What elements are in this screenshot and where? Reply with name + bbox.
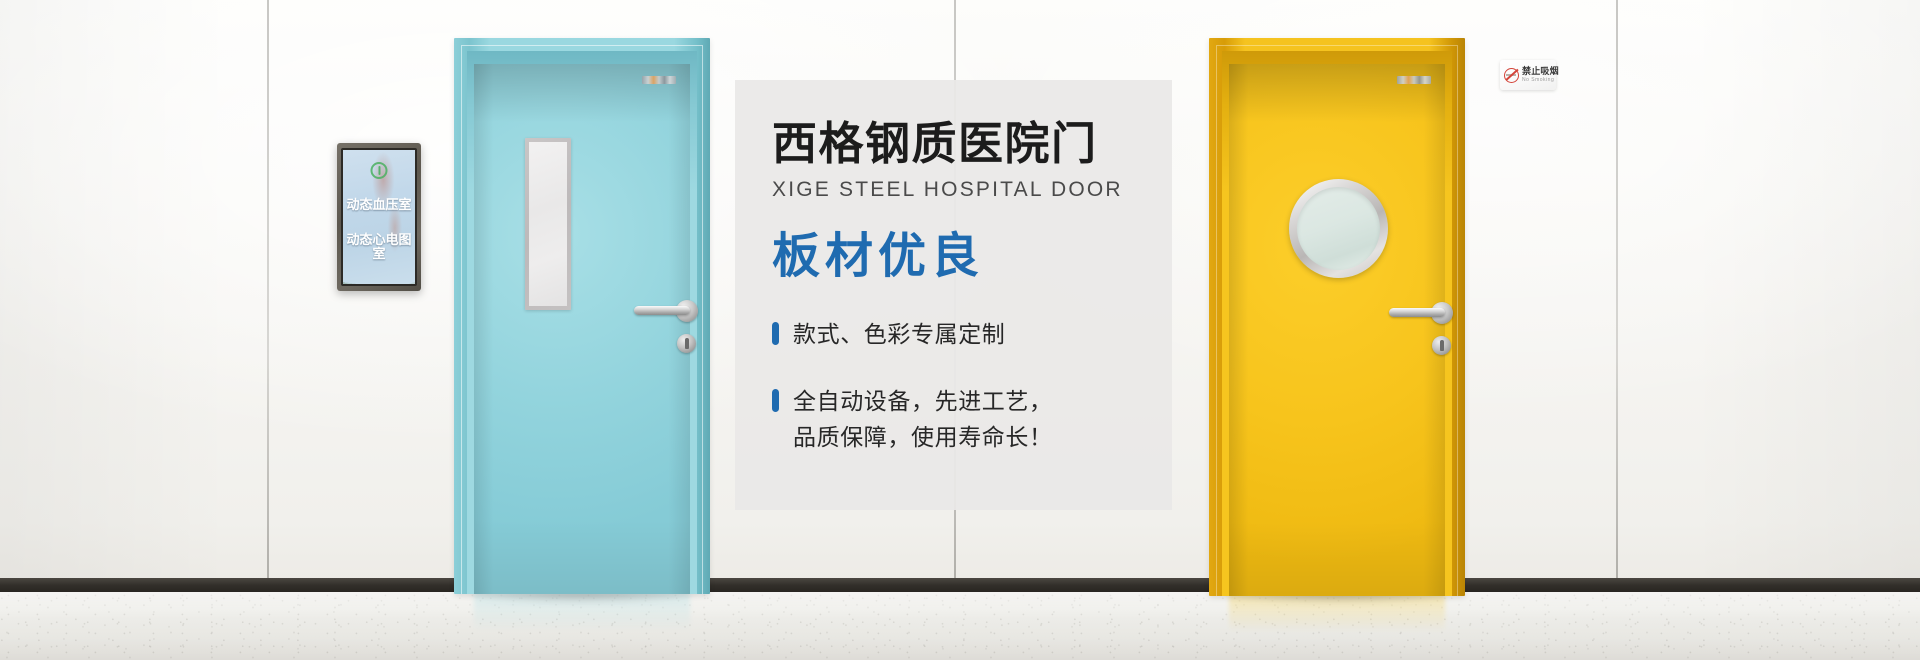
hospital-corridor-scene: 动态血压室 动态心电图室 <box>0 0 1920 660</box>
page-title: 西格钢质医院门 <box>772 120 1172 167</box>
monitor-line-1: 动态血压室 <box>346 197 411 212</box>
monitor-room-labels: 动态血压室 动态心电图室 <box>343 198 415 262</box>
list-item-text: 全自动设备，先进工艺， 品质保障，使用寿命长！ <box>793 384 1053 455</box>
list-item-line-2: 品质保障，使用寿命长！ <box>793 420 1053 456</box>
wall-mounted-room-sign-monitor[interactable]: 动态血压室 动态心电图室 <box>337 143 421 291</box>
page-subtitle: XIGE STEEL HOSPITAL DOOR <box>772 178 1172 202</box>
door-vision-panel-glass <box>529 142 567 306</box>
lock-cylinder-icon[interactable] <box>677 334 696 353</box>
list-item-line-1: 款式、色彩专属定制 <box>793 321 1005 347</box>
bullet-marker-icon <box>772 322 779 345</box>
no-smoking-icon <box>1504 68 1519 83</box>
keyhole-icon <box>685 338 689 349</box>
list-item: 全自动设备，先进工艺， 品质保障，使用寿命长！ <box>772 384 1172 455</box>
lock-cylinder-icon[interactable] <box>1432 336 1451 355</box>
door-handle-assembly[interactable] <box>1383 302 1453 364</box>
monitor-screen: 动态血压室 动态心电图室 <box>343 150 415 284</box>
no-smoking-sign: 禁止吸烟 No Smoking <box>1500 60 1556 90</box>
wall-panel-seam <box>267 0 269 592</box>
list-item: 款式、色彩专属定制 <box>772 317 1172 353</box>
hospital-logo-icon <box>371 162 388 179</box>
list-item-text: 款式、色彩专属定制 <box>793 317 1005 353</box>
door-porthole-glass <box>1297 187 1380 270</box>
door-leaf[interactable] <box>1229 64 1445 596</box>
keyhole-icon <box>1440 340 1444 351</box>
no-smoking-label-en: No Smoking <box>1522 78 1559 83</box>
list-item-line-1: 全自动设备，先进工艺， <box>793 388 1053 414</box>
product-info-content: 西格钢质医院门 XIGE STEEL HOSPITAL DOOR 板材优良 款式… <box>772 120 1172 456</box>
cyan-hospital-door[interactable] <box>454 38 710 594</box>
bullet-marker-icon <box>772 389 779 412</box>
no-smoking-text: 禁止吸烟 No Smoking <box>1522 67 1559 83</box>
wall-panel-seam <box>1616 0 1618 592</box>
lever-handle-icon[interactable] <box>1389 308 1445 317</box>
door-spec-sticker <box>642 76 676 84</box>
monitor-line-2: 动态心电图室 <box>343 233 415 262</box>
headline: 板材优良 <box>772 232 1172 282</box>
no-smoking-label-cn: 禁止吸烟 <box>1522 67 1559 76</box>
door-handle-assembly[interactable] <box>628 300 698 362</box>
door-porthole-frame <box>1289 179 1388 278</box>
door-vision-panel-frame <box>525 138 571 310</box>
door-spec-sticker <box>1397 76 1431 84</box>
yellow-hospital-door[interactable] <box>1209 38 1465 596</box>
feature-bullet-list: 款式、色彩专属定制 全自动设备，先进工艺， 品质保障，使用寿命长！ <box>772 317 1172 456</box>
monitor-bezel: 动态血压室 动态心电图室 <box>341 148 417 286</box>
lever-handle-icon[interactable] <box>634 306 690 315</box>
corridor-floor <box>0 592 1920 660</box>
door-leaf[interactable] <box>474 64 690 594</box>
